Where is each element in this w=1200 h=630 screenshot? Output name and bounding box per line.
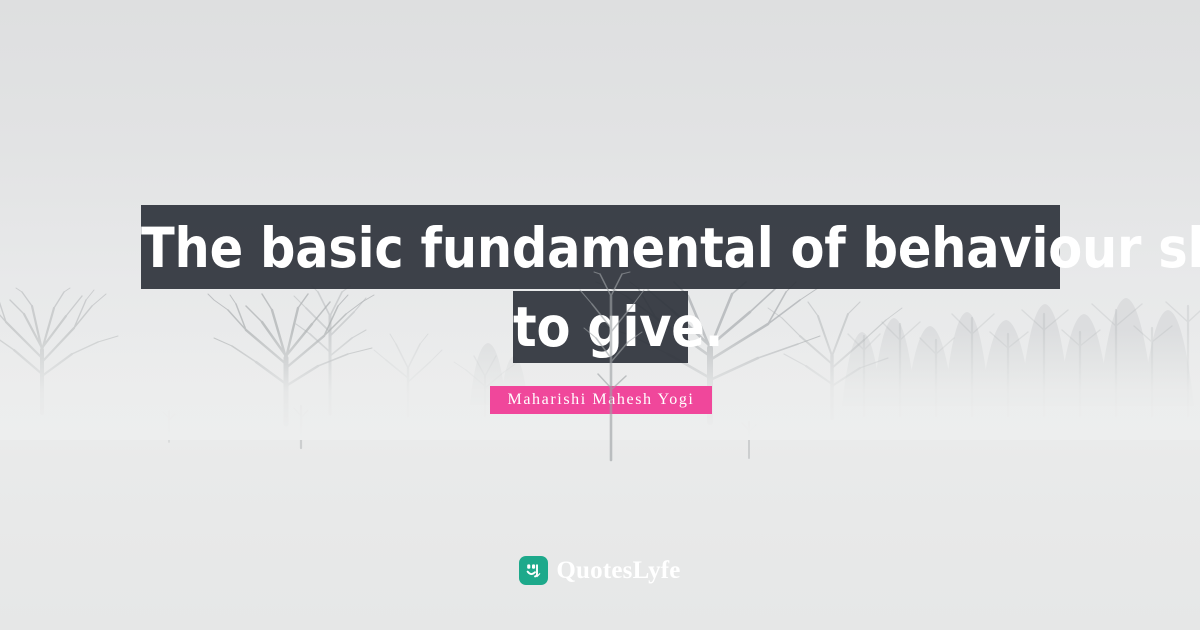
quote-smiley-icon [519, 556, 548, 585]
quote-card: The basic fundamental of behaviour shoul… [0, 0, 1200, 630]
brand-logo[interactable]: QuotesLyfe [0, 556, 1200, 585]
brand-name: QuotesLyfe [556, 556, 680, 585]
tree-center-sapling [578, 272, 646, 460]
background-scene [0, 0, 1200, 630]
